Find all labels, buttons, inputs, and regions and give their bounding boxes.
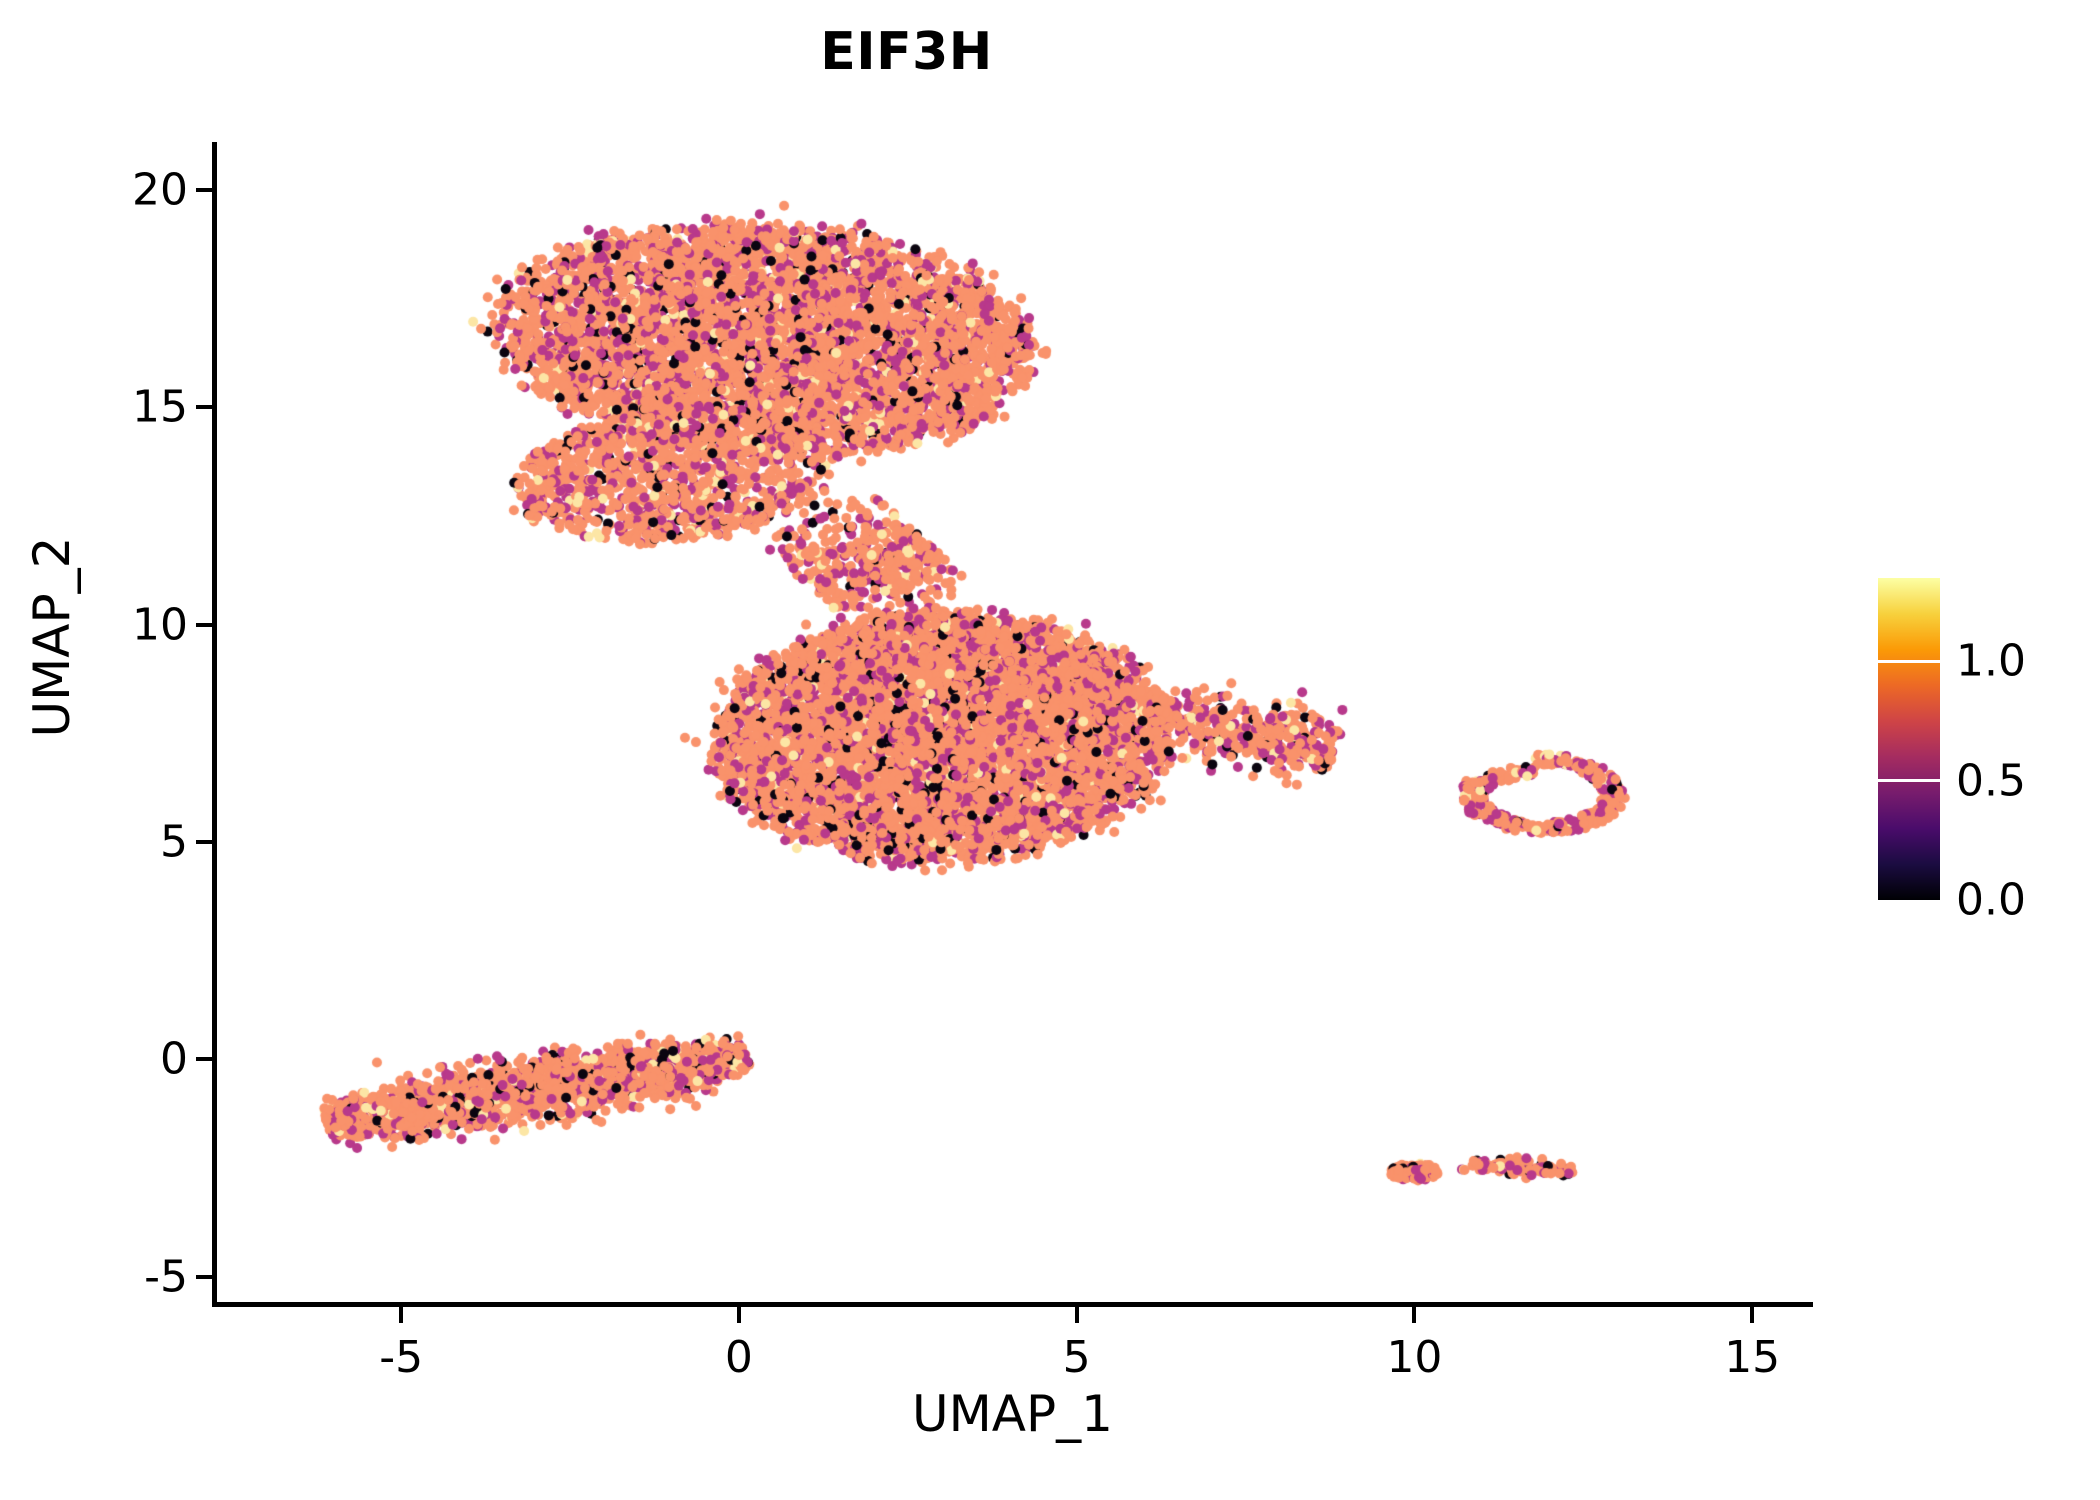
colorbar-tick-mark — [1878, 660, 1940, 663]
colorbar-tick-label: 0.0 — [1956, 875, 2026, 926]
y-axis-spine — [212, 142, 217, 1307]
y-tick-mark — [196, 623, 212, 627]
y-tick-mark — [196, 1275, 212, 1279]
y-tick-mark — [196, 840, 212, 844]
x-axis-spine — [212, 1302, 1813, 1307]
y-axis-label: UMAP_2 — [23, 237, 81, 1037]
colorbar-tick-label: 1.0 — [1956, 636, 2026, 687]
y-tick-label: 10 — [132, 599, 188, 650]
x-tick-mark — [399, 1307, 403, 1323]
y-tick-mark — [196, 188, 212, 192]
x-tick-mark — [1075, 1307, 1079, 1323]
page-title: EIF3H — [0, 22, 1813, 82]
y-tick-label: -5 — [144, 1251, 188, 1302]
plot-axes: -505101520 -5051015 — [212, 142, 1813, 1307]
colorbar-gradient — [1878, 578, 1940, 900]
x-axis-label: UMAP_1 — [212, 1385, 1813, 1443]
x-tick-label: 10 — [1386, 1332, 1442, 1383]
colorbar-tick-mark — [1878, 779, 1940, 782]
y-tick-label: 5 — [160, 816, 188, 867]
y-tick-label: 0 — [160, 1034, 188, 1085]
x-tick-label: 0 — [725, 1332, 753, 1383]
umap-feature-plot-figure: EIF3H -505101520 -5051015 UMAP_1 UMAP_2 … — [0, 0, 2100, 1500]
colorbar-tick-label: 0.5 — [1956, 755, 2026, 806]
y-tick-mark — [196, 1057, 212, 1061]
x-tick-mark — [1412, 1307, 1416, 1323]
x-tick-label: 5 — [1063, 1332, 1091, 1383]
y-tick-label: 20 — [132, 164, 188, 215]
x-tick-label: 15 — [1724, 1332, 1780, 1383]
y-tick-mark — [196, 405, 212, 409]
y-tick-label: 15 — [132, 382, 188, 433]
colorbar: 0.00.51.0 — [1878, 578, 2078, 900]
scatter-canvas — [212, 142, 1813, 1307]
x-tick-mark — [737, 1307, 741, 1323]
x-tick-mark — [1750, 1307, 1754, 1323]
x-tick-label: -5 — [379, 1332, 423, 1383]
